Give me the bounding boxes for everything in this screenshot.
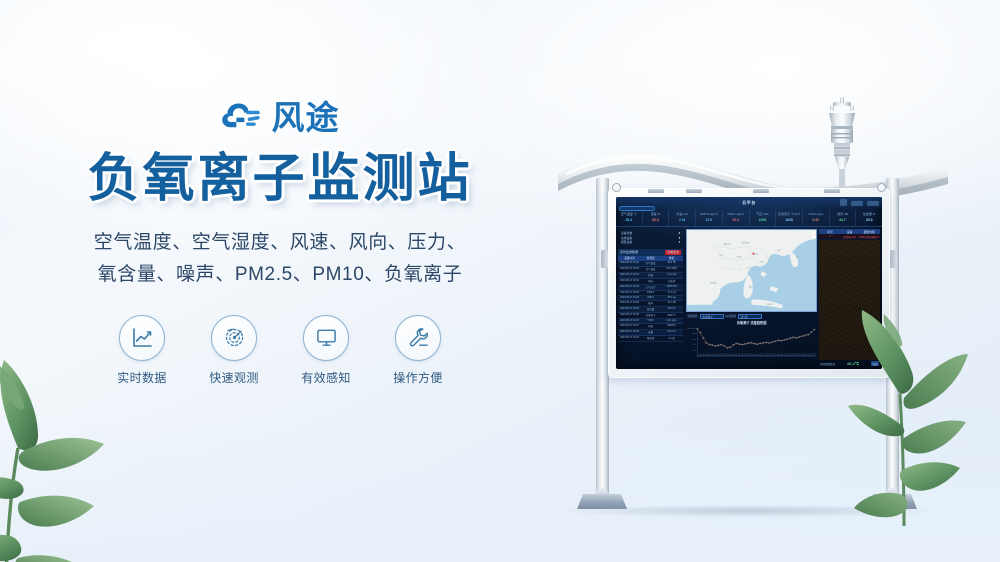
ring-hook-right bbox=[877, 183, 886, 192]
svg-text:1040: 1040 bbox=[692, 344, 696, 346]
stat-card[interactable]: 湿度 %62.8 bbox=[643, 210, 670, 226]
wrench-icon bbox=[395, 315, 441, 361]
stat-card[interactable]: TVOC ppm0.31 bbox=[803, 210, 830, 226]
hinge-tab-right bbox=[890, 250, 897, 268]
table-cell: 2023-05-17 10:30 bbox=[619, 285, 640, 289]
table-column-header: 采集时间 bbox=[619, 256, 640, 260]
camera-feed[interactable] bbox=[819, 240, 880, 360]
chart-filter-bar: 监测项目 负氧离子 时间范围 近7天 bbox=[686, 312, 817, 320]
table-cell: 东南风 bbox=[661, 279, 682, 283]
table-cell: 35.6 ug bbox=[661, 296, 682, 299]
svg-text:0: 0 bbox=[695, 355, 696, 357]
stat-card-value: 2.31 bbox=[669, 217, 695, 223]
header-icon-menu[interactable] bbox=[851, 201, 863, 206]
feature-item-effective-sensing[interactable]: 有效感知 bbox=[295, 315, 357, 386]
playback-button[interactable]: 回放 bbox=[871, 361, 879, 366]
map-zoom-out-button[interactable] bbox=[812, 235, 815, 238]
feature-item-fast-observation[interactable]: 快速观测 bbox=[203, 315, 265, 386]
stat-card[interactable]: PM2.5 ug/m³17.0 bbox=[696, 210, 723, 226]
wind-cloud-logo-icon bbox=[221, 101, 263, 135]
table-cell: 紫外线 bbox=[640, 336, 661, 340]
feature-row: 实时数据 快速观测 有效感知 bbox=[0, 315, 560, 386]
dashboard-header: 云平台 bbox=[616, 197, 882, 210]
brand-lockup: 风途 bbox=[0, 96, 560, 140]
table-cell: 2023-05-17 10:32 bbox=[619, 261, 640, 265]
trend-chart[interactable]: 负氧离子 浓度趋势图 05201040156020802600个/cm³05-1… bbox=[686, 320, 817, 367]
time-range-select[interactable]: 近7天 bbox=[738, 314, 762, 319]
feature-label: 实时数据 bbox=[111, 369, 173, 386]
filter-label: 监测项目 bbox=[687, 314, 697, 318]
table-cell: 2.31 m/s bbox=[661, 273, 682, 277]
stat-card[interactable]: 噪声 dB44.7 bbox=[830, 210, 857, 226]
feature-item-realtime-data[interactable]: 实时数据 bbox=[111, 315, 173, 386]
table-cell: 0.0 mm bbox=[661, 330, 682, 334]
camera-reading: 26.4℃ bbox=[847, 361, 859, 366]
view-more-badge[interactable]: 查看更多 bbox=[665, 250, 681, 255]
header-icon-report[interactable] bbox=[840, 199, 847, 206]
table-cell: 空气湿度 bbox=[640, 267, 661, 271]
table-cell: 35200 lx bbox=[661, 324, 682, 328]
stat-card-strip: 空气温度 ℃26.4湿度 %62.8风速 m/s2.31PM2.5 ug/m³1… bbox=[616, 210, 882, 227]
table-row[interactable]: 2023-05-17 10:26紫外线3.1 级 bbox=[618, 336, 683, 342]
svg-text:520: 520 bbox=[693, 350, 696, 352]
stat-card-value: 20.9 bbox=[856, 217, 882, 223]
camera-status-bar: 实时视频监控 26.4℃ 回放 bbox=[819, 360, 880, 367]
monitor-item-select[interactable]: 负氧离子 bbox=[700, 314, 724, 319]
table-cell: 大气压力 bbox=[640, 285, 661, 289]
table-cell: 2023-05-17 10:27 bbox=[619, 319, 640, 322]
mount-clip bbox=[648, 189, 664, 193]
monitoring-station-kiosk: 云平台 空气温度 ℃26.4湿度 %62.8风速 m/s2.31PM2.5 ug… bbox=[548, 96, 958, 516]
alarm-list: 1监测站 001PM10 超过阈值 35.6 bbox=[819, 234, 880, 239]
hero-content: 风途 负氧离子监测站 空气温度、空气湿度、风速、风向、压力、 氧含量、噪声、PM… bbox=[0, 96, 560, 386]
table-cell: 17.0 ug bbox=[661, 291, 682, 294]
data-table-body: 2023-05-17 10:32空气温度26.4 ℃2023-05-17 10:… bbox=[618, 261, 683, 342]
device-counter-box: 设备总数3在线设备3报警设备1 bbox=[618, 229, 683, 247]
china-map[interactable]: 乌鲁木齐呼和浩特 拉萨西安 北京上海 广州新德里 曼谷雅加达 东京首尔 bbox=[686, 229, 817, 312]
display-enclosure: 云平台 空气温度 ℃26.4湿度 %62.8风速 m/s2.31PM2.5 ug… bbox=[608, 188, 890, 378]
monitor-icon bbox=[303, 315, 349, 361]
center-panel: 乌鲁木齐呼和浩特 拉萨西安 北京上海 广州新德里 曼谷雅加达 东京首尔 bbox=[685, 227, 818, 369]
header-icon-user[interactable] bbox=[867, 201, 879, 206]
feature-label: 快速观测 bbox=[203, 369, 265, 386]
sensor-list-line-2: 氧含量、噪声、PM2.5、PM10、负氧离子 bbox=[0, 259, 560, 291]
header-tool-group[interactable] bbox=[840, 199, 879, 206]
stat-card[interactable]: 负氧离子 个/cm³1826 bbox=[776, 210, 803, 226]
table-cell: 雨量 bbox=[640, 330, 661, 334]
map-zoom-controls[interactable] bbox=[812, 231, 815, 238]
table-cell: 噪声 bbox=[640, 301, 661, 305]
stat-card[interactable]: PM10 ug/m³35.6 bbox=[723, 210, 750, 226]
table-column-header: 监测项 bbox=[640, 256, 661, 260]
table-cell: TVOC bbox=[640, 319, 661, 322]
table-column-row: 采集时间监测项数值 bbox=[618, 256, 683, 261]
table-cell: 2023-05-17 10:26 bbox=[619, 330, 640, 334]
hinge-tab-left bbox=[601, 250, 608, 268]
sensor-list-line-1: 空气温度、空气湿度、风速、风向、压力、 bbox=[0, 227, 560, 259]
table-cell: 1826 个 bbox=[661, 313, 682, 317]
mount-clip bbox=[753, 189, 769, 193]
alarm-row[interactable]: 1监测站 001PM10 超过阈值 35.6 bbox=[819, 234, 880, 239]
table-cell: 0.31 ppm bbox=[661, 319, 682, 322]
device-counter-value: 1 bbox=[679, 240, 681, 245]
table-cell: 2023-05-17 10:28 bbox=[619, 307, 640, 311]
table-cell: 风向 bbox=[640, 279, 661, 283]
table-cell: 氧含量 bbox=[640, 307, 661, 311]
table-cell: 2023-05-17 10:30 bbox=[619, 291, 640, 294]
dashboard-screen[interactable]: 云平台 空气温度 ℃26.4湿度 %62.8风速 m/s2.31PM2.5 ug… bbox=[616, 197, 882, 369]
table-cell: PM10 bbox=[640, 296, 661, 299]
table-cell: 光照 bbox=[640, 324, 661, 328]
table-cell: 62.8 %RH bbox=[661, 267, 682, 271]
stat-card-value: 44.7 bbox=[830, 217, 856, 223]
device-counter-label: 报警设备 bbox=[621, 240, 632, 245]
table-column-header: 数值 bbox=[661, 256, 682, 260]
table-cell: 空气温度 bbox=[640, 261, 661, 265]
table-cell: PM2.5 bbox=[640, 291, 661, 294]
table-cell: 20.9 % bbox=[661, 307, 682, 311]
ring-hook-left bbox=[612, 183, 621, 192]
table-cell: 2023-05-17 10:27 bbox=[619, 324, 640, 328]
stat-card[interactable]: 气压 hPa1008 bbox=[750, 210, 777, 226]
stat-card[interactable]: 氧含量 %20.9 bbox=[856, 210, 882, 226]
ground-shadow bbox=[558, 506, 938, 518]
stat-card[interactable]: 风速 m/s2.31 bbox=[669, 210, 696, 226]
device-counter: 报警设备1 bbox=[621, 240, 680, 245]
radar-signal-icon bbox=[211, 315, 257, 361]
stat-card-value: 26.4 bbox=[616, 217, 642, 223]
camera-label: 实时视频监控 bbox=[820, 362, 835, 366]
stat-card-value: 35.6 bbox=[723, 217, 749, 223]
alarm-column-header: 序号 bbox=[820, 230, 840, 234]
table-cell: 3.1 级 bbox=[661, 336, 682, 340]
svg-text:2080: 2080 bbox=[692, 333, 696, 335]
mount-clip bbox=[686, 189, 702, 193]
stat-card-value: 1826 bbox=[776, 217, 802, 223]
stat-card[interactable]: 空气温度 ℃26.4 bbox=[616, 210, 643, 226]
table-header-bar: 实时监测数据 查看更多 bbox=[618, 249, 683, 256]
stat-card-value: 62.8 bbox=[643, 217, 669, 223]
table-cell: 2023-05-17 10:31 bbox=[619, 279, 640, 283]
alarm-cell: PM10 超过阈值 35.6 bbox=[859, 235, 879, 239]
feature-item-easy-operation[interactable]: 操作方便 bbox=[387, 315, 449, 386]
mount-clip bbox=[824, 189, 840, 193]
dashboard-body: 设备总数3在线设备3报警设备1 实时监测数据 查看更多 采集时间监测项数值 20… bbox=[616, 227, 882, 369]
svg-text:2600: 2600 bbox=[692, 328, 696, 330]
table-cell: 2023-05-17 10:29 bbox=[619, 296, 640, 299]
alarm-column-header: 设备 bbox=[840, 230, 860, 234]
table-cell: 44.7 dB bbox=[661, 301, 682, 305]
stat-card-value: 17.0 bbox=[696, 217, 722, 223]
table-cell: 2023-05-17 10:28 bbox=[619, 313, 640, 317]
feature-label: 操作方便 bbox=[387, 369, 449, 386]
stat-card-value: 1008 bbox=[750, 217, 776, 223]
table-cell: 2023-05-17 10:31 bbox=[619, 273, 640, 277]
table-cell: 负氧离子 bbox=[640, 313, 661, 317]
right-panel: 序号设备报警内容 1监测站 001PM10 超过阈值 35.6 实时视频监控 2… bbox=[818, 227, 882, 369]
page-title: 负氧离子监测站 bbox=[0, 152, 560, 207]
feature-label: 有效感知 bbox=[295, 369, 357, 386]
sensor-list-text: 空气温度、空气湿度、风速、风向、压力、 氧含量、噪声、PM2.5、PM10、负氧… bbox=[0, 227, 560, 291]
table-cell: 26.4 ℃ bbox=[661, 261, 682, 265]
svg-text:1560: 1560 bbox=[692, 339, 696, 341]
alarm-cell: 1 bbox=[820, 235, 840, 239]
station-tag[interactable] bbox=[619, 206, 655, 211]
line-chart-icon bbox=[119, 315, 165, 361]
map-zoom-in-button[interactable] bbox=[812, 231, 815, 234]
stat-card-value: 0.31 bbox=[803, 217, 829, 223]
table-caption: 实时监测数据 bbox=[620, 250, 638, 254]
table-cell: 2023-05-17 10:29 bbox=[619, 301, 640, 305]
table-cell: 1008 hPa bbox=[661, 285, 682, 289]
brand-name: 风途 bbox=[272, 101, 340, 135]
table-cell: 2023-05-17 10:26 bbox=[619, 336, 640, 340]
alarm-cell: 监测站 001 bbox=[840, 235, 860, 239]
table-cell: 风速 bbox=[640, 273, 661, 277]
left-panel: 设备总数3在线设备3报警设备1 实时监测数据 查看更多 采集时间监测项数值 20… bbox=[616, 227, 685, 369]
alarm-column-header: 报警内容 bbox=[859, 230, 879, 234]
table-cell: 2023-05-17 10:32 bbox=[619, 267, 640, 271]
range-label: 时间范围 bbox=[726, 314, 736, 318]
